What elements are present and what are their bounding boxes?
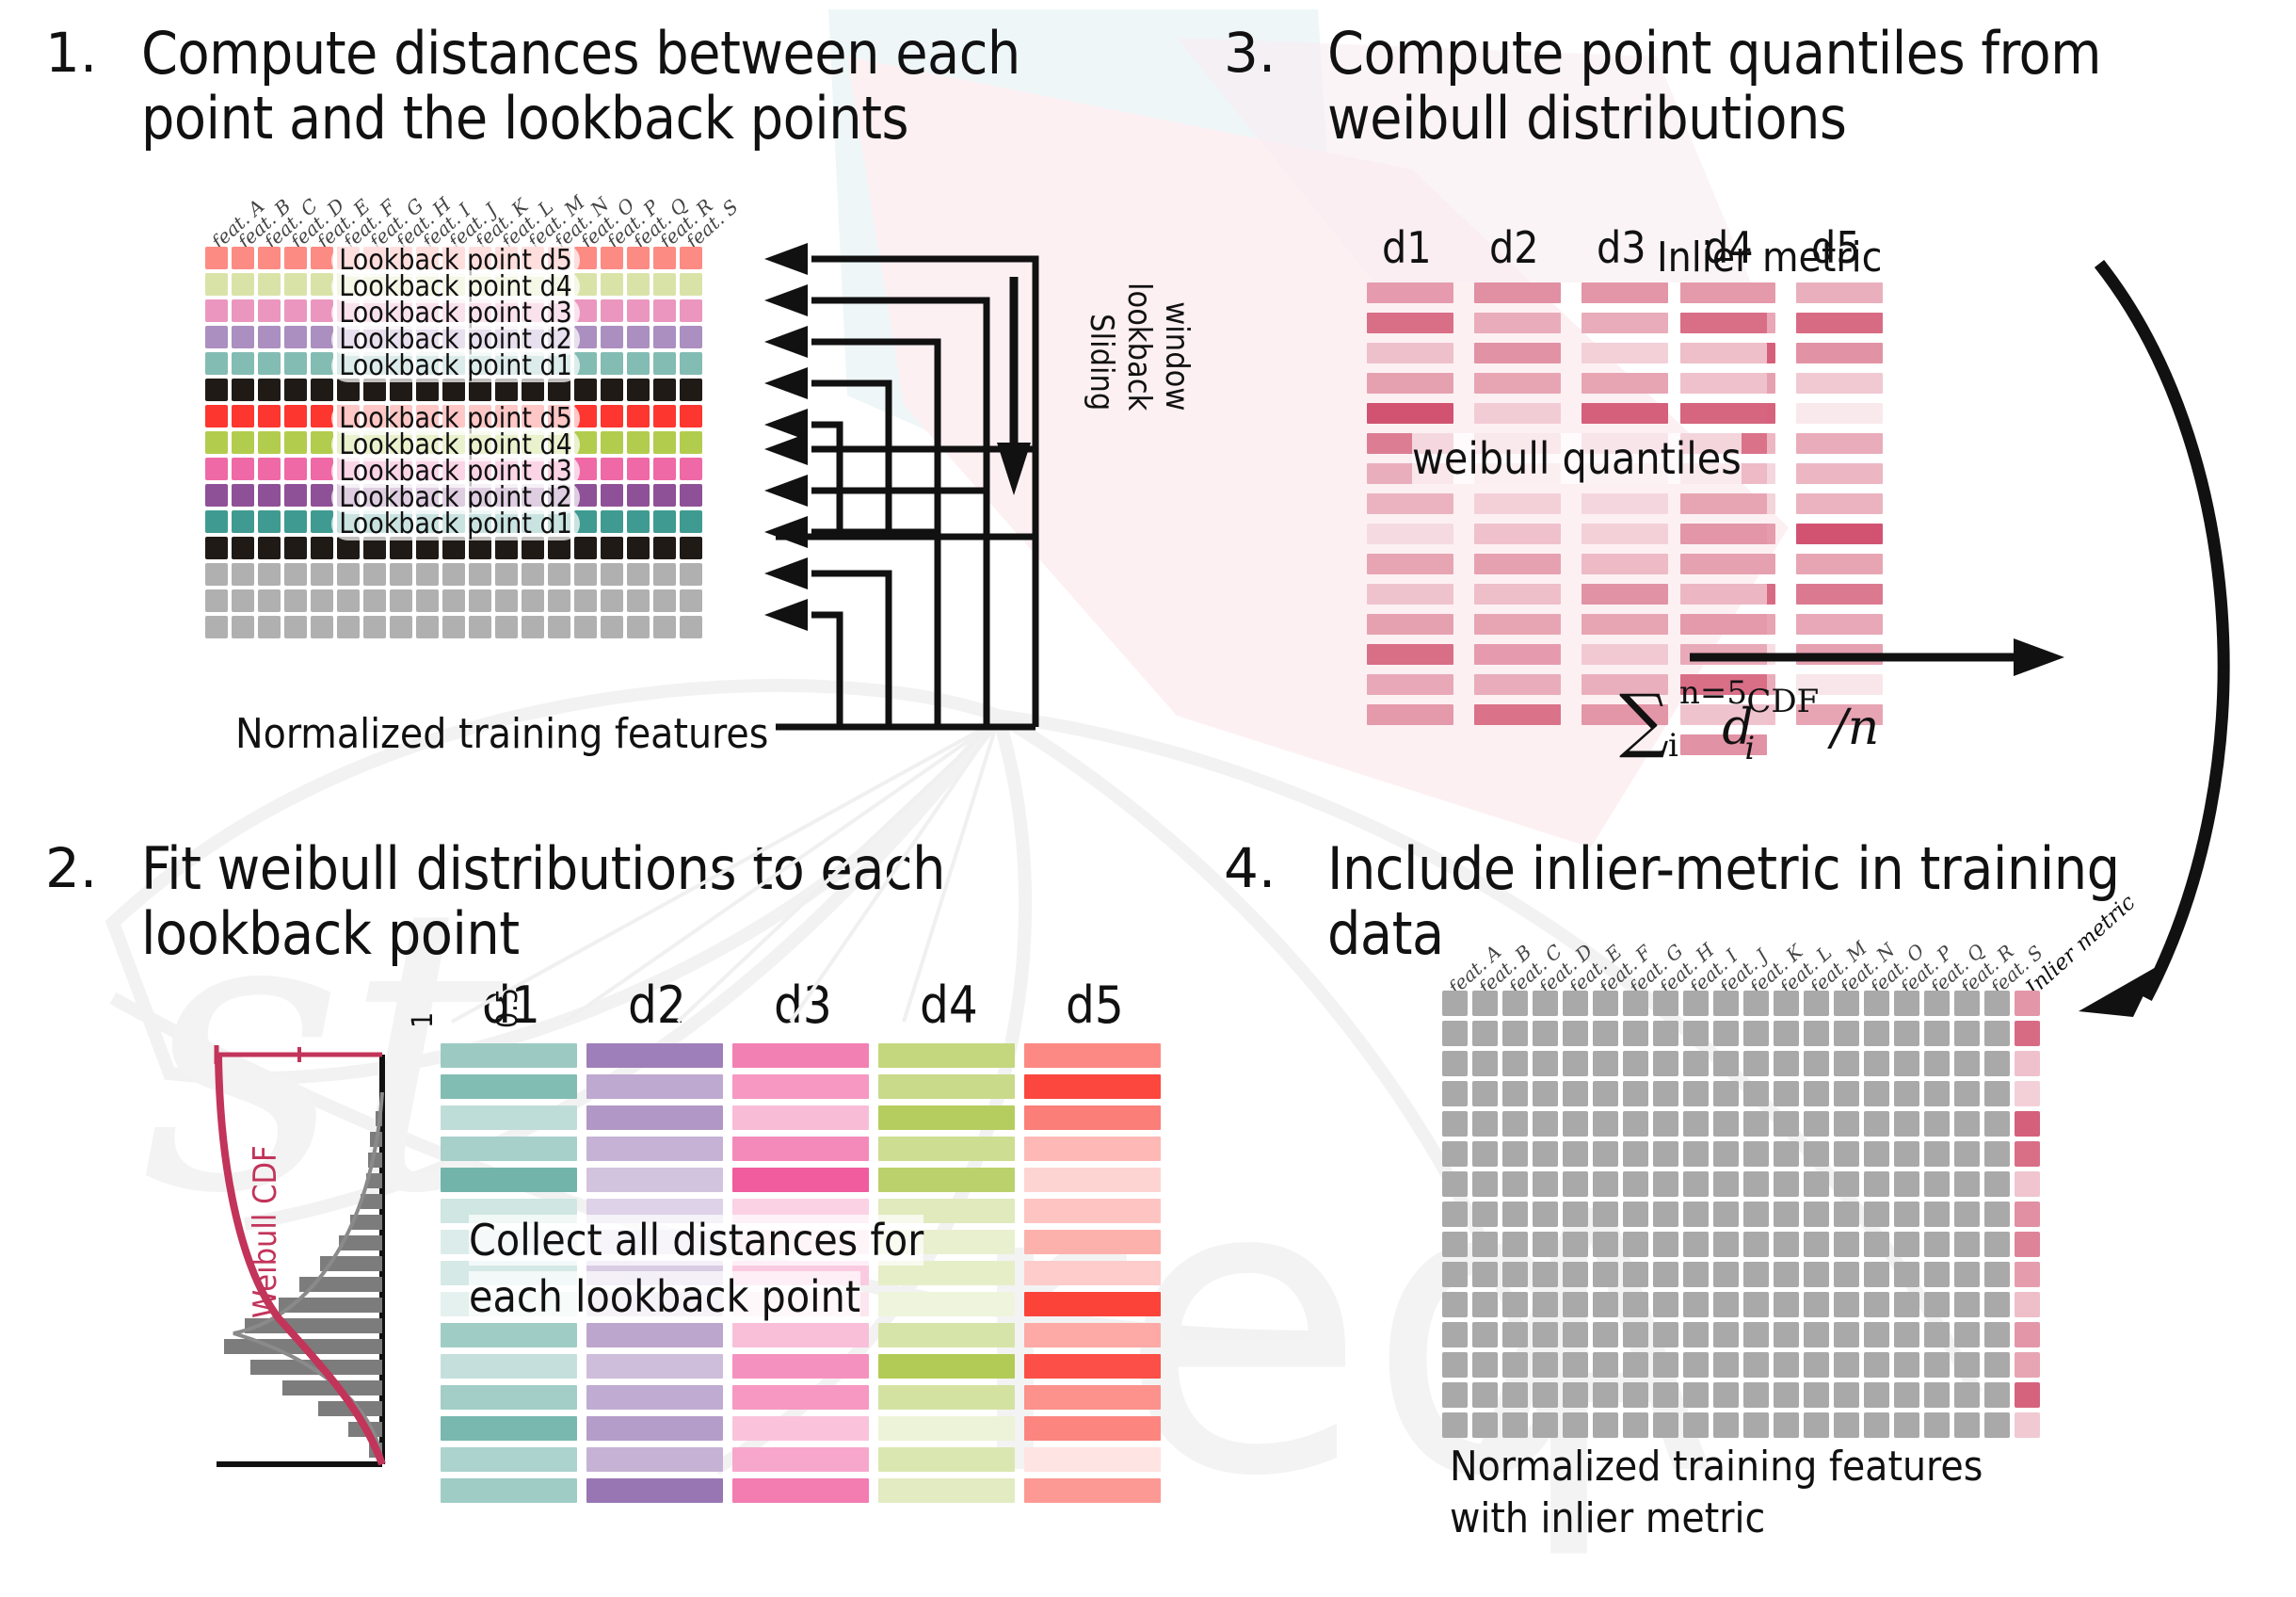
training-feature-cell <box>1864 1292 1889 1317</box>
quantile-bar <box>1582 493 1668 514</box>
training-feature-cell <box>1653 991 1678 1016</box>
quantile-bar <box>1474 524 1561 544</box>
training-feature-cell <box>1442 1081 1468 1106</box>
distance-bar <box>878 1354 1015 1379</box>
training-feature-cell <box>1472 1051 1498 1076</box>
training-feature-cell <box>1804 991 1829 1016</box>
step-3-column-label-d3: d3 <box>1597 222 1646 273</box>
lookback-row-label: Lookback point d1 <box>300 508 611 540</box>
training-feature-cell <box>1653 1352 1678 1378</box>
feature-cell <box>205 379 228 401</box>
training-feature-cell <box>1834 991 1859 1016</box>
distance-bar <box>441 1074 577 1099</box>
training-feature-cell <box>1954 1081 1980 1106</box>
distance-bar <box>878 1074 1015 1099</box>
training-feature-cell <box>1623 1352 1648 1378</box>
feature-cell <box>390 589 412 612</box>
step-2-overlay-line-0: Collect all distances for <box>469 1215 923 1266</box>
feature-cell <box>522 563 544 586</box>
training-feature-cell <box>1864 1352 1889 1378</box>
distance-bar <box>1024 1199 1161 1223</box>
feature-cell <box>205 352 228 375</box>
feature-cell <box>232 247 254 269</box>
feature-cell <box>627 510 650 533</box>
training-feature-cell <box>1774 991 1799 1016</box>
training-feature-cell <box>1442 1292 1468 1317</box>
training-feature-cell <box>1984 1292 2010 1317</box>
training-feature-cell <box>1713 1232 1739 1257</box>
feature-cell <box>601 563 623 586</box>
distance-bar <box>1024 1261 1161 1285</box>
training-feature-cell <box>1804 1171 1829 1197</box>
training-feature-cell <box>1774 1262 1799 1287</box>
training-feature-cell <box>1533 1171 1558 1197</box>
feature-cell <box>258 379 281 401</box>
training-feature-cell <box>1804 1292 1829 1317</box>
feature-cell <box>495 563 518 586</box>
training-feature-cell <box>1713 1382 1739 1408</box>
training-feature-cell <box>1713 1262 1739 1287</box>
feature-cell <box>653 589 676 612</box>
distance-bar <box>441 1447 577 1472</box>
feature-cell <box>653 537 676 559</box>
training-feature-cell <box>1683 1412 1709 1438</box>
training-feature-cell <box>1834 1412 1859 1438</box>
training-feature-cell <box>1864 1051 1889 1076</box>
training-feature-cell <box>1442 1262 1468 1287</box>
step-4-caption: Normalized training featureswith inlier … <box>1450 1441 2127 1544</box>
training-feature-cell <box>1683 1232 1709 1257</box>
feature-cell <box>258 405 281 427</box>
feature-cell <box>548 616 570 638</box>
distance-bar <box>878 1323 1015 1347</box>
training-feature-cell <box>1924 1111 1950 1137</box>
feature-cell <box>442 616 465 638</box>
step-3-column-d3 <box>1582 282 1668 730</box>
training-feature-cell <box>1593 1382 1618 1408</box>
training-feature-cell <box>1623 1202 1648 1227</box>
training-inlier-metric-cell <box>2015 1081 2040 1106</box>
training-feature-cell <box>1713 1202 1739 1227</box>
training-inlier-metric-cell <box>2015 1141 2040 1167</box>
training-feature-cell <box>1533 1202 1558 1227</box>
training-feature-cell <box>1743 1141 1769 1167</box>
feature-cell <box>258 537 281 559</box>
training-feature-cell <box>1864 1232 1889 1257</box>
training-feature-cell <box>1623 991 1648 1016</box>
training-feature-cell <box>1954 1111 1980 1137</box>
feature-cell <box>680 563 702 586</box>
feature-cell <box>337 616 360 638</box>
distance-bar <box>878 1105 1015 1130</box>
training-feature-cell <box>1954 1292 1980 1317</box>
training-feature-cell <box>1563 1382 1588 1408</box>
quantile-bar <box>1367 493 1453 514</box>
training-feature-cell <box>1472 1171 1498 1197</box>
training-feature-cell <box>1502 1051 1528 1076</box>
feature-cell <box>627 616 650 638</box>
quantile-bar <box>1582 554 1668 574</box>
feature-cell <box>653 405 676 427</box>
quantile-bar <box>1796 614 1883 635</box>
feature-cell <box>680 273 702 296</box>
distance-bar <box>441 1385 577 1410</box>
training-feature-cell <box>1743 1262 1769 1287</box>
distance-bar <box>586 1354 723 1379</box>
training-feature-cell <box>1864 1171 1889 1197</box>
distance-bar <box>1024 1137 1161 1161</box>
training-feature-cell <box>1954 1412 1980 1438</box>
training-feature-cell <box>1683 1081 1709 1106</box>
training-feature-cell <box>1502 1352 1528 1378</box>
training-feature-cell <box>1623 1141 1648 1167</box>
training-feature-cell <box>1713 1111 1739 1137</box>
training-feature-cell <box>1653 1382 1678 1408</box>
training-feature-cell <box>1924 1202 1950 1227</box>
training-feature-cell <box>1954 1202 1980 1227</box>
training-feature-cell <box>1864 991 1889 1016</box>
training-feature-cell <box>1442 1111 1468 1137</box>
training-feature-cell <box>1804 1141 1829 1167</box>
step-2-overlay-note: Collect all distances foreach lookback p… <box>469 1213 1034 1326</box>
training-feature-cell <box>1683 1171 1709 1197</box>
feature-cell <box>680 431 702 454</box>
distance-bar <box>878 1478 1015 1503</box>
feature-cell <box>258 352 281 375</box>
distance-bar <box>1024 1447 1161 1472</box>
feature-cell <box>627 352 650 375</box>
training-feature-cell <box>1713 1051 1739 1076</box>
training-feature-cell <box>1774 1111 1799 1137</box>
step-2-column-d5 <box>1024 1043 1161 1505</box>
training-feature-cell <box>1774 1202 1799 1227</box>
feature-cell <box>232 352 254 375</box>
feature-cell <box>469 589 491 612</box>
distance-bar <box>586 1105 723 1130</box>
weibull-tick-05: 0.5 <box>491 988 524 1028</box>
training-feature-cell <box>1502 1292 1528 1317</box>
training-feature-cell <box>1804 1232 1829 1257</box>
feature-cell <box>258 299 281 322</box>
training-feature-cell <box>1743 1322 1769 1347</box>
training-feature-cell <box>1984 1412 2010 1438</box>
training-feature-cell <box>1743 1051 1769 1076</box>
training-feature-cell <box>1563 1262 1588 1287</box>
quantile-bar <box>1474 403 1561 424</box>
feature-cell <box>574 563 597 586</box>
feature-cell <box>442 563 465 586</box>
inlier-metric-bar <box>1680 584 1767 605</box>
feature-cell <box>627 589 650 612</box>
quantile-bar <box>1474 493 1561 514</box>
training-feature-cell <box>1593 1412 1618 1438</box>
feature-cell <box>232 510 254 533</box>
training-feature-cell <box>1743 1352 1769 1378</box>
quantile-bar <box>1582 584 1668 605</box>
inlier-metric-bar <box>1680 282 1767 303</box>
training-feature-cell <box>1713 1141 1739 1167</box>
feature-cell <box>574 616 597 638</box>
training-feature-cell <box>1954 1141 1980 1167</box>
inlier-metric-bar <box>1680 493 1767 514</box>
step-4-number: 4. <box>1224 836 1276 900</box>
quantile-bar <box>1582 343 1668 363</box>
training-feature-cell <box>1563 1322 1588 1347</box>
training-feature-cell <box>1834 1382 1859 1408</box>
feature-cell <box>258 510 281 533</box>
step-3-number: 3. <box>1224 21 1276 85</box>
training-feature-cell <box>1563 1202 1588 1227</box>
training-feature-cell <box>1653 1141 1678 1167</box>
training-inlier-metric-cell <box>2015 1352 2040 1378</box>
feature-cell <box>495 589 518 612</box>
quantile-bar <box>1367 554 1453 574</box>
feature-cell <box>522 589 544 612</box>
training-feature-cell <box>1924 1051 1950 1076</box>
distance-bar <box>1024 1354 1161 1379</box>
training-feature-cell <box>1593 1141 1618 1167</box>
training-feature-cell <box>1984 1171 2010 1197</box>
feature-cell <box>205 537 228 559</box>
quantile-bar <box>1582 403 1668 424</box>
quantile-bar <box>1474 373 1561 394</box>
feature-cell <box>232 537 254 559</box>
training-feature-cell <box>1563 1352 1588 1378</box>
training-feature-cell <box>1774 1292 1799 1317</box>
distance-bar <box>878 1385 1015 1410</box>
quantile-bar <box>1582 313 1668 333</box>
distance-bar <box>732 1447 869 1472</box>
quantile-bar <box>1367 343 1453 363</box>
feature-cell <box>680 537 702 559</box>
training-feature-cell <box>1804 1081 1829 1106</box>
step-4-caption-line-1: with inlier metric <box>1450 1492 2127 1544</box>
training-feature-cell <box>1774 1412 1799 1438</box>
training-feature-cell <box>1442 1202 1468 1227</box>
distance-bar <box>1024 1323 1161 1347</box>
feature-cell <box>258 589 281 612</box>
feature-cell <box>232 484 254 507</box>
training-feature-cell <box>1502 1111 1528 1137</box>
training-feature-cell <box>1442 991 1468 1016</box>
training-feature-cell <box>1653 1292 1678 1317</box>
distance-bar <box>441 1354 577 1379</box>
training-feature-cell <box>1924 1382 1950 1408</box>
training-feature-cell <box>1623 1051 1648 1076</box>
training-feature-cell <box>1653 1081 1678 1106</box>
feature-cell <box>205 405 228 427</box>
training-feature-cell <box>1954 1352 1980 1378</box>
feature-cell <box>205 299 228 322</box>
feature-cell <box>653 352 676 375</box>
training-feature-cell <box>1623 1171 1648 1197</box>
training-inlier-metric-cell <box>2015 1232 2040 1257</box>
sliding-window-label: windowlookbackSliding <box>1054 282 1196 411</box>
feature-cell <box>680 616 702 638</box>
feature-cell <box>232 299 254 322</box>
quantile-bar <box>1474 554 1561 574</box>
step-3-title-line-0: Compute point quantiles from <box>1327 21 2269 86</box>
training-inlier-metric-cell <box>2015 1322 2040 1347</box>
training-feature-cell <box>1924 1021 1950 1046</box>
step-4-feature-grid <box>1442 991 2040 1438</box>
training-feature-cell <box>1472 1141 1498 1167</box>
feature-cell <box>363 616 386 638</box>
training-feature-cell <box>1743 1111 1769 1137</box>
training-feature-cell <box>1774 1382 1799 1408</box>
training-feature-cell <box>1472 1111 1498 1137</box>
training-feature-cell <box>1713 1021 1739 1046</box>
feature-cell <box>205 563 228 586</box>
feature-cell <box>653 510 676 533</box>
training-feature-cell <box>1683 1322 1709 1347</box>
training-feature-cell <box>1623 1412 1648 1438</box>
inlier-metric-formula: ∑n=5i dCDFi /n <box>1619 680 1879 761</box>
feature-cell <box>284 616 307 638</box>
quantile-bar <box>1474 614 1561 635</box>
training-feature-cell <box>1834 1292 1859 1317</box>
quantile-bar <box>1474 584 1561 605</box>
feature-cell <box>680 484 702 507</box>
quantile-bar <box>1796 403 1883 424</box>
feature-cell <box>653 247 676 269</box>
training-feature-cell <box>1593 1021 1618 1046</box>
step-4-caption-line-0: Normalized training features <box>1450 1441 2127 1492</box>
distance-bar <box>878 1137 1015 1161</box>
quantile-bar <box>1367 313 1453 333</box>
feature-cell <box>680 326 702 348</box>
distance-bar <box>441 1137 577 1161</box>
training-feature-cell <box>1653 1051 1678 1076</box>
training-feature-cell <box>1533 1382 1558 1408</box>
distance-bar <box>878 1447 1015 1472</box>
training-feature-cell <box>1774 1352 1799 1378</box>
training-feature-cell <box>1533 1021 1558 1046</box>
feature-cell <box>601 616 623 638</box>
step-1-title-line-1: point and the lookback points <box>141 86 1036 151</box>
training-feature-cell <box>1743 991 1769 1016</box>
training-feature-cell <box>1984 1202 2010 1227</box>
distance-bar <box>441 1416 577 1441</box>
distance-bar <box>586 1447 723 1472</box>
training-feature-cell <box>1563 1292 1588 1317</box>
training-feature-cell <box>1472 1412 1498 1438</box>
training-feature-cell <box>1804 1322 1829 1347</box>
feature-cell <box>311 589 333 612</box>
training-feature-cell <box>1472 1081 1498 1106</box>
training-feature-cell <box>1563 991 1588 1016</box>
training-feature-cell <box>1864 1262 1889 1287</box>
training-feature-cell <box>1593 1292 1618 1317</box>
training-feature-cell <box>1804 1262 1829 1287</box>
feature-cell <box>680 247 702 269</box>
training-feature-cell <box>1894 1352 1919 1378</box>
training-feature-cell <box>1472 1322 1498 1347</box>
feature-cell <box>337 563 360 586</box>
quantile-bar <box>1796 463 1883 484</box>
training-feature-cell <box>1472 1352 1498 1378</box>
training-feature-cell <box>1834 1322 1859 1347</box>
training-feature-cell <box>1653 1412 1678 1438</box>
training-feature-cell <box>1864 1202 1889 1227</box>
weibull-cdf-axis-label: Weibull CDF <box>247 1145 284 1318</box>
training-feature-cell <box>1894 1322 1919 1347</box>
feature-cell <box>284 589 307 612</box>
feature-cell <box>205 458 228 480</box>
training-feature-cell <box>1984 1322 2010 1347</box>
feature-cell <box>627 273 650 296</box>
training-feature-cell <box>1502 1262 1528 1287</box>
training-feature-cell <box>1502 1412 1528 1438</box>
quantile-bar <box>1474 343 1561 363</box>
training-feature-cell <box>1774 1322 1799 1347</box>
feature-cell <box>232 458 254 480</box>
quantile-bar <box>1796 313 1883 333</box>
training-feature-cell <box>1774 1051 1799 1076</box>
training-feature-cell <box>1683 1111 1709 1137</box>
training-feature-cell <box>1593 1111 1618 1137</box>
training-feature-cell <box>1894 1382 1919 1408</box>
inlier-metric-title: Inlier metric <box>1657 234 1882 282</box>
feature-cell <box>442 589 465 612</box>
training-feature-cell <box>1864 1021 1889 1046</box>
distance-bar <box>586 1168 723 1192</box>
feature-cell <box>258 326 281 348</box>
training-feature-cell <box>1502 1171 1528 1197</box>
distance-bar <box>732 1168 869 1192</box>
feature-cell <box>627 326 650 348</box>
training-feature-cell <box>1442 1051 1468 1076</box>
training-inlier-metric-cell <box>2015 1111 2040 1137</box>
training-feature-cell <box>1834 1232 1859 1257</box>
training-feature-cell <box>1533 1081 1558 1106</box>
training-inlier-metric-cell <box>2015 1292 2040 1317</box>
sliding-window-label-line-0: window <box>1158 301 1196 411</box>
training-feature-cell <box>1774 1141 1799 1167</box>
feature-cell <box>205 589 228 612</box>
training-feature-cell <box>1502 1322 1528 1347</box>
quantile-bar <box>1582 282 1668 303</box>
training-feature-cell <box>1683 1352 1709 1378</box>
feature-cell <box>284 563 307 586</box>
training-feature-cell <box>1563 1111 1588 1137</box>
feature-cell <box>627 563 650 586</box>
training-feature-cell <box>1533 1292 1558 1317</box>
feature-cell <box>416 563 439 586</box>
inlier-metric-bar <box>1680 403 1767 424</box>
feature-cell <box>627 537 650 559</box>
training-feature-cell <box>1623 1081 1648 1106</box>
training-feature-cell <box>1743 1081 1769 1106</box>
training-feature-cell <box>1502 1382 1528 1408</box>
step-3-title: Compute point quantiles fromweibull dist… <box>1327 21 2269 152</box>
distance-bar <box>732 1074 869 1099</box>
feature-cell <box>363 563 386 586</box>
feature-cell <box>232 405 254 427</box>
feature-cell <box>653 431 676 454</box>
training-feature-cell <box>1713 991 1739 1016</box>
feature-cell <box>627 458 650 480</box>
feature-cell <box>205 431 228 454</box>
training-feature-cell <box>1924 1171 1950 1197</box>
training-feature-cell <box>1774 1171 1799 1197</box>
training-feature-cell <box>1834 1111 1859 1137</box>
training-feature-cell <box>1743 1171 1769 1197</box>
feature-cell <box>680 589 702 612</box>
training-feature-cell <box>1442 1382 1468 1408</box>
feature-cell <box>416 589 439 612</box>
training-feature-cell <box>1533 1141 1558 1167</box>
